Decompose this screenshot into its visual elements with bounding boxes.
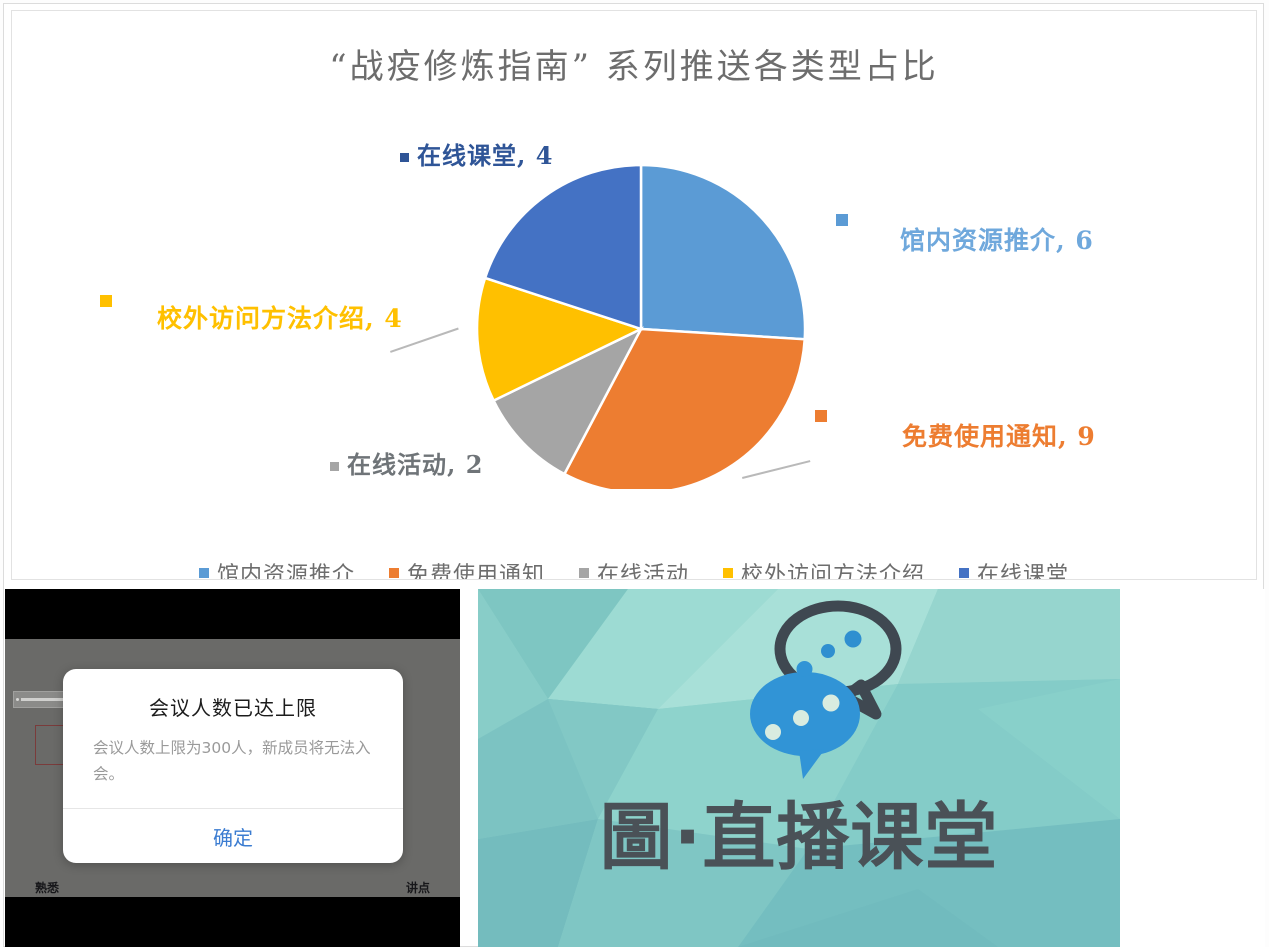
background-text-row: 熟悉 讲点 [5, 879, 460, 896]
right-margin [1120, 589, 1265, 947]
legend-item-free-notice[interactable]: 免费使用通知 [389, 557, 545, 579]
data-label-resource: 馆内资源推介, 6 [900, 221, 1094, 257]
legend-label-online-activity: 在线活动 [597, 557, 689, 579]
legend-label-resource: 馆内资源推介 [217, 557, 355, 579]
meeting-limit-dialog: 会议人数已达上限 会议人数上限为300人，新成员将无法入会。 确定 [63, 669, 403, 863]
data-label-free-notice: 免费使用通知, 9 [902, 417, 1096, 453]
chart-legend: 馆内资源推介 免费使用通知 在线活动 校外访问方法介绍 在线课堂 [12, 557, 1256, 579]
dialog-confirm-button[interactable]: 确定 [63, 809, 403, 863]
legend-swatch-free-notice [389, 568, 399, 578]
background-text-right: 讲点 [406, 879, 430, 896]
slide-collage: “战疫修炼指南” 系列推送各类型占比 [0, 0, 1269, 952]
data-label-marker-free-notice [815, 410, 827, 422]
data-label-marker-online-activity [330, 462, 339, 471]
legend-item-offcampus[interactable]: 校外访问方法介绍 [723, 557, 925, 579]
background-text-left: 熟悉 [35, 879, 59, 896]
filled-bubble-icon [750, 661, 860, 779]
bottom-margin [0, 947, 1269, 952]
pie-svg [457, 159, 837, 489]
data-label-online-class: 在线课堂, 4 [400, 136, 553, 171]
letterbox-bottom [5, 897, 460, 947]
legend-item-online-activity[interactable]: 在线活动 [579, 557, 689, 579]
legend-swatch-online-activity [579, 568, 589, 578]
live-classroom-poster: 圖·直播课堂 [478, 589, 1120, 947]
letterbox-top [5, 589, 460, 639]
legend-swatch-offcampus [723, 568, 733, 578]
data-label-offcampus: 校外访问方法介绍, 4 [157, 299, 403, 335]
legend-label-offcampus: 校外访问方法介绍 [741, 557, 925, 579]
legend-swatch-resource [199, 568, 209, 578]
dialog-title: 会议人数已达上限 [63, 692, 403, 721]
legend-label-online-class: 在线课堂 [977, 557, 1069, 579]
logo-svg [733, 589, 923, 784]
data-label-marker-online-class [400, 153, 409, 162]
speech-bubbles-logo [733, 589, 923, 784]
toolbar-dot-icon [16, 698, 19, 701]
toolbar-bar-icon [21, 698, 67, 701]
legend-item-resource[interactable]: 馆内资源推介 [199, 557, 355, 579]
legend-label-free-notice: 免费使用通知 [407, 557, 545, 579]
pie-chart [457, 159, 837, 489]
pie-slice-guannei [641, 165, 805, 339]
data-label-marker-resource [836, 214, 848, 226]
data-label-online-activity: 在线活动, 2 [330, 445, 483, 480]
legend-item-online-class[interactable]: 在线课堂 [959, 557, 1069, 579]
legend-swatch-online-class [959, 568, 969, 578]
dialog-message: 会议人数上限为300人，新成员将无法入会。 [93, 735, 373, 787]
chart-title: “战疫修炼指南” 系列推送各类型占比 [12, 39, 1256, 88]
data-label-marker-offcampus [100, 295, 112, 307]
pie-chart-slide: “战疫修炼指南” 系列推送各类型占比 [12, 11, 1256, 579]
poster-title: 圖·直播课堂 [478, 778, 1120, 884]
